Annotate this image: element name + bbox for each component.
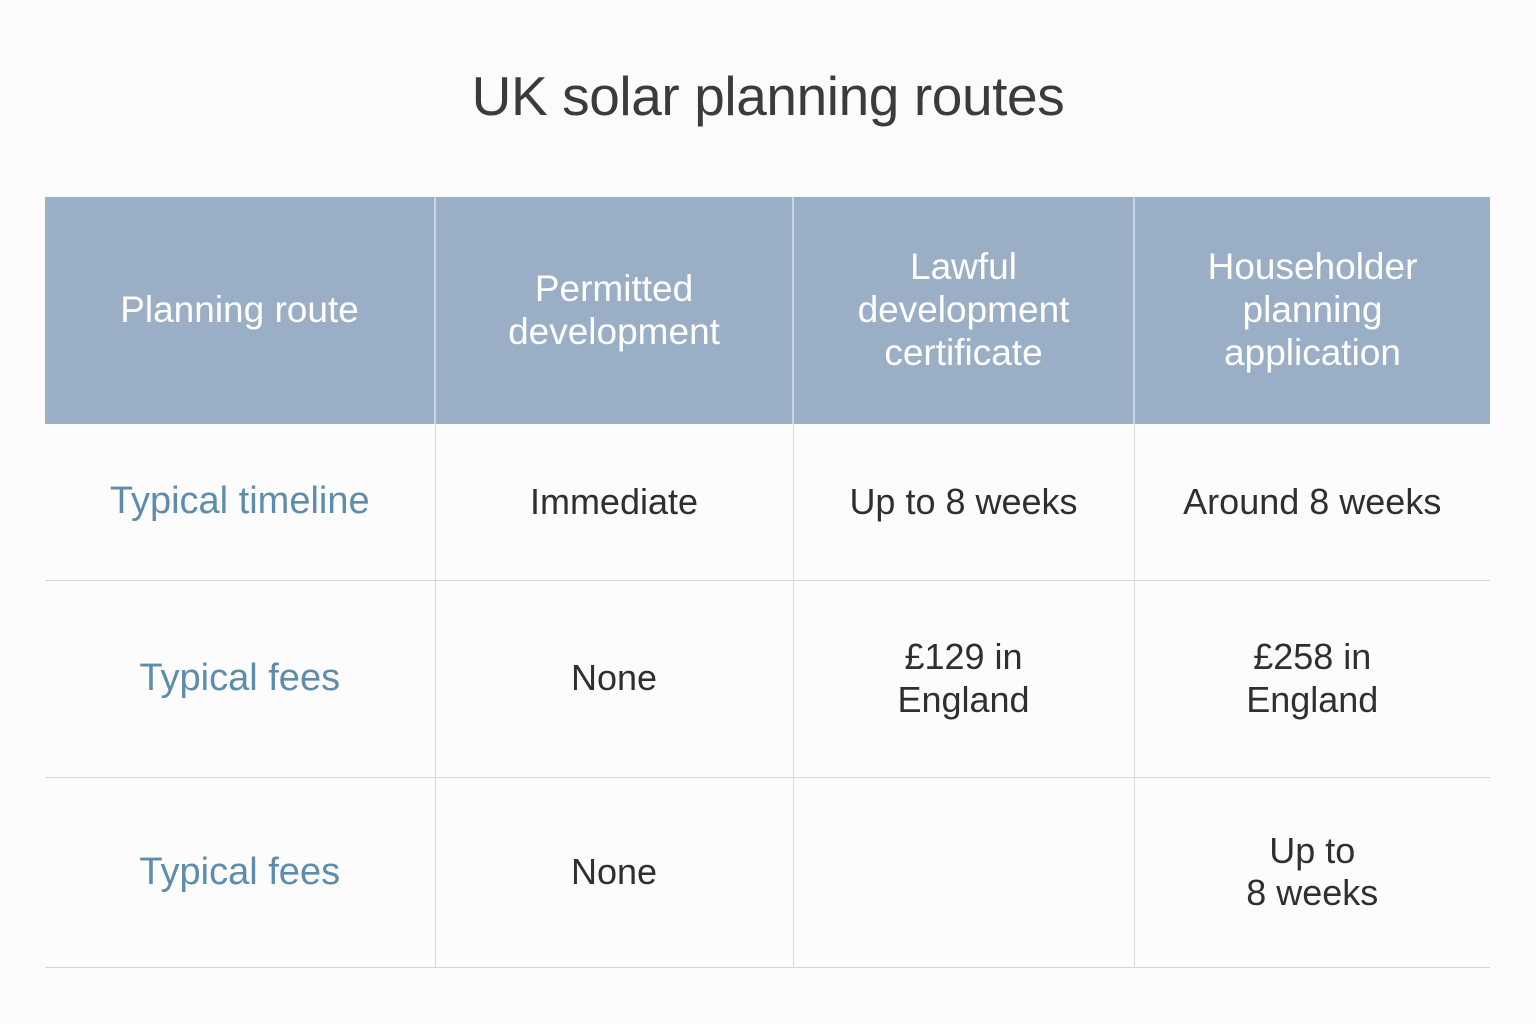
planning-routes-table: Planning route Permitted development Law… bbox=[45, 197, 1490, 968]
cell-fees2-householder-planning-application: Up to 8 weeks bbox=[1134, 777, 1490, 967]
row-label-typical-timeline: Typical timeline bbox=[45, 424, 435, 580]
cell-fees2-lawful-development-certificate bbox=[793, 777, 1134, 967]
cell-timeline-lawful-development-certificate: Up to 8 weeks bbox=[793, 424, 1134, 580]
column-header-planning-route: Planning route bbox=[45, 197, 435, 424]
column-header-householder-planning-application: Householder planning application bbox=[1134, 197, 1490, 424]
cell-timeline-householder-planning-application: Around 8 weeks bbox=[1134, 424, 1490, 580]
table-header-row: Planning route Permitted development Law… bbox=[45, 197, 1490, 424]
cell-fees2-permitted-development: None bbox=[435, 777, 793, 967]
cell-fees1-lawful-development-certificate: £129 in England bbox=[793, 580, 1134, 777]
table-row: Typical timeline Immediate Up to 8 weeks… bbox=[45, 424, 1490, 580]
page-root: UK solar planning routes Planning route … bbox=[0, 0, 1536, 1024]
table-header: Planning route Permitted development Law… bbox=[45, 197, 1490, 424]
page-title: UK solar planning routes bbox=[0, 66, 1536, 127]
table-row: Typical fees None Up to 8 weeks bbox=[45, 777, 1490, 967]
row-label-typical-fees-1: Typical fees bbox=[45, 580, 435, 777]
column-header-lawful-development-certificate: Lawful development certificate bbox=[793, 197, 1134, 424]
cell-fees1-permitted-development: None bbox=[435, 580, 793, 777]
column-header-permitted-development: Permitted development bbox=[435, 197, 793, 424]
table-body: Typical timeline Immediate Up to 8 weeks… bbox=[45, 424, 1490, 967]
row-label-typical-fees-2: Typical fees bbox=[45, 777, 435, 967]
cell-fees1-householder-planning-application: £258 in England bbox=[1134, 580, 1490, 777]
table-row: Typical fees None £129 in England £258 i… bbox=[45, 580, 1490, 777]
cell-timeline-permitted-development: Immediate bbox=[435, 424, 793, 580]
planning-routes-table-wrap: Planning route Permitted development Law… bbox=[45, 197, 1490, 967]
